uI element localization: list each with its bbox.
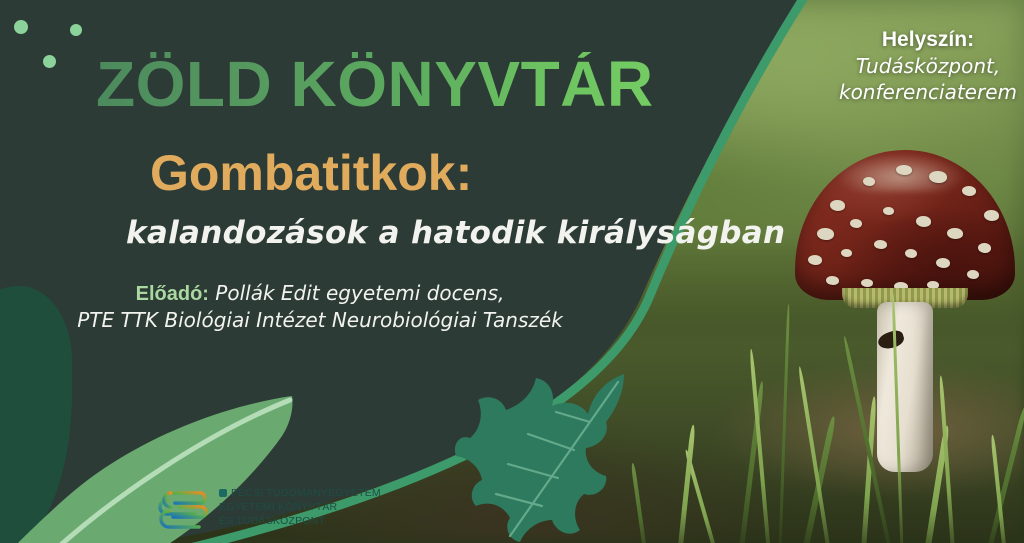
subtitle-main: Gombatitkok: [150,148,472,198]
decorative-dot [43,55,56,68]
venue-block: Helyszín: Tudásközpont, konferenciaterem [838,26,1018,105]
logo-text-block: PÉCSI TUDOMÁNYEGYETEM EGYETEMI KÖNYVTÁR … [219,486,381,529]
decorative-dot [14,20,28,34]
oak-leaf-shape [452,372,632,543]
venue-line-2: konferenciaterem [838,79,1018,105]
venue-label: Helyszín: [838,26,1018,53]
paperclip-ribbon-icon [155,484,211,530]
decorative-dot [70,24,82,36]
logo-line-1: PÉCSI TUDOMÁNYEGYETEM [231,486,381,500]
page-title: ZÖLD KÖNYVTÁR [96,52,654,116]
subtitle-sub: kalandozások a hatodik királyságban [126,215,785,251]
speaker-block: Előadó: Pollák Edit egyetemi docens, PTE… [70,281,570,333]
logo-line-2: EGYETEMI KÖNYVTÁR [219,500,381,514]
speaker-line-1: Előadó: Pollák Edit egyetemi docens, [70,281,570,308]
speaker-affiliation: PTE TTK Biológiai Intézet Neurobiológiai… [70,308,570,334]
speaker-label: Előadó: [136,283,209,305]
logo-line-3: ÉS TUDÁSKÖZPONT [219,514,381,528]
venue-line-1: Tudásközpont, [838,53,1018,79]
university-logo: PÉCSI TUDOMÁNYEGYETEM EGYETEMI KÖNYVTÁR … [155,484,381,530]
poster-canvas: ZÖLD KÖNYVTÁR Gombatitkok: kalandozások … [0,0,1024,543]
speaker-name: Pollák Edit egyetemi docens, [209,281,504,305]
university-emblem-icon [219,489,227,497]
